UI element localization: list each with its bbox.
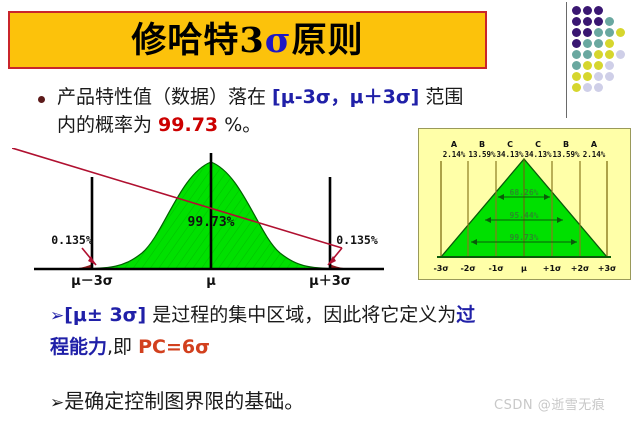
bullet-2-line-1: ➢[μ± 3σ] 是过程的集中区域，因此将它定义为过 — [50, 300, 610, 332]
decorative-dot — [605, 17, 614, 26]
decorative-dot — [583, 39, 592, 48]
zone-percent-2: 34.13% — [496, 150, 524, 159]
decorative-dot — [605, 50, 614, 59]
bullet-2-highlight-1: 过 — [456, 304, 475, 326]
decorative-dot — [605, 39, 614, 48]
decorative-dot — [583, 17, 592, 26]
bullet-1-text-c: 内的概率为 — [57, 114, 158, 136]
zone-percent-5: 2.14% — [583, 150, 606, 159]
decorative-dot — [583, 28, 592, 37]
bullet-3-text: 是确定控制图界限的基础。 — [64, 389, 304, 413]
decorative-dot — [605, 72, 614, 81]
axis-label-mean: μ — [206, 274, 216, 288]
zone-tick-1: -2σ — [460, 264, 475, 273]
bell-curve-svg: 99.73% 0.135% 0.135% μ－3σ μ μ＋3σ — [12, 148, 410, 288]
inner-label-68: 68.26% — [510, 188, 539, 197]
bullet-item-2: ➢[μ± 3σ] 是过程的集中区域，因此将它定义为过 程能力,即 PC=6σ — [50, 300, 610, 363]
center-probability-label: 99.73% — [188, 215, 235, 230]
decorative-dot — [583, 72, 592, 81]
zone-letter-3: C — [535, 140, 541, 149]
bullet-1-text-a: 产品特性值（数据）落在 — [57, 86, 272, 108]
gradient-dot-grid — [572, 6, 638, 94]
bullet-dot-icon — [38, 96, 45, 103]
sigma-range-expression: [μ-3σ，μ＋3σ] — [272, 86, 419, 108]
zone-percent-0: 2.14% — [443, 150, 466, 159]
process-capability-term: 程能力 — [50, 336, 107, 358]
slide-title-banner: 修哈特3σ原则 — [8, 11, 487, 69]
pc-formula: PC=6σ — [138, 336, 210, 358]
decorative-dot — [572, 39, 581, 48]
zone-tick-3: μ — [521, 264, 527, 273]
decorative-dot — [594, 61, 603, 70]
decorative-dot — [616, 28, 625, 37]
axis-label-plus-3sigma: μ＋3σ — [309, 274, 351, 288]
sigma-range-expression-2: [μ± 3σ] — [64, 304, 146, 326]
zone-chart-svg: A B C C B A 2.14% 13.59% 34.13% 34.13% 1… — [419, 129, 630, 279]
title-prefix: 修哈特3 — [131, 20, 264, 61]
zone-letter-5: A — [591, 140, 598, 149]
decorative-dot — [583, 6, 592, 15]
zone-percent-3: 34.13% — [524, 150, 552, 159]
bullet-arrow-icon-3: ➢ — [50, 393, 64, 413]
decorative-dot — [583, 61, 592, 70]
normal-distribution-chart: 99.73% 0.135% 0.135% μ－3σ μ μ＋3σ — [12, 148, 410, 288]
zone-tick-2: -1σ — [488, 264, 503, 273]
right-tail-label: 0.135% — [336, 233, 378, 247]
decorative-dot — [594, 83, 603, 92]
decorative-dot — [594, 72, 603, 81]
page-title: 修哈特3σ原则 — [131, 23, 363, 58]
zone-percent-1: 13.59% — [468, 150, 496, 159]
decorative-dot — [594, 50, 603, 59]
bullet-1-line-1: 产品特性值（数据）落在 [μ-3σ，μ＋3σ] 范围 — [57, 83, 594, 111]
zone-tick-5: +2σ — [571, 264, 590, 273]
decorative-dot — [572, 17, 581, 26]
inner-label-95: 95.44% — [510, 211, 539, 220]
decorative-dot — [583, 50, 592, 59]
decorative-dot — [605, 61, 614, 70]
zone-tick-6: +3σ — [598, 264, 617, 273]
left-tail-label: 0.135% — [51, 233, 93, 247]
decorative-dot — [616, 50, 625, 59]
bullet-arrow-icon-2: ➢ — [50, 306, 64, 326]
decorative-dot — [594, 28, 603, 37]
decorative-dot — [572, 6, 581, 15]
decorative-dot — [594, 17, 603, 26]
decorative-dot — [594, 6, 603, 15]
zone-letter-1: B — [479, 140, 485, 149]
bullet-2-text-b: ,即 — [107, 336, 138, 358]
zone-tick-0: -3σ — [433, 264, 448, 273]
decorative-dot — [572, 72, 581, 81]
csdn-watermark: CSDN @逝雪无痕 — [494, 394, 605, 413]
zone-letter-4: B — [563, 140, 569, 149]
zone-percent-4: 13.59% — [552, 150, 580, 159]
bullet-item-3: ➢是确定控制图界限的基础。 — [50, 385, 304, 414]
decorative-dot — [594, 39, 603, 48]
bullet-1-text-b: 范围 — [419, 86, 463, 108]
decorative-dot — [572, 61, 581, 70]
probability-value: 99.73 — [158, 114, 218, 136]
zone-tick-4: +1σ — [543, 264, 562, 273]
zone-letter-2: C — [507, 140, 513, 149]
bullet-2-line-2: 程能力,即 PC=6σ — [50, 332, 610, 363]
decorative-dot — [605, 28, 614, 37]
decorative-dot — [572, 50, 581, 59]
sigma-zone-chart: A B C C B A 2.14% 13.59% 34.13% 34.13% 1… — [418, 128, 631, 280]
axis-label-minus-3sigma: μ－3σ — [71, 274, 113, 288]
bullet-1-text-d: %。 — [218, 114, 261, 136]
title-sigma-symbol: σ — [265, 20, 292, 61]
decorative-dot — [572, 28, 581, 37]
bullet-2-text-a: 是过程的集中区域，因此将它定义为 — [146, 304, 456, 326]
inner-label-99: 99.73% — [510, 233, 539, 242]
zone-letter-0: A — [451, 140, 458, 149]
title-suffix: 原则 — [292, 20, 364, 61]
